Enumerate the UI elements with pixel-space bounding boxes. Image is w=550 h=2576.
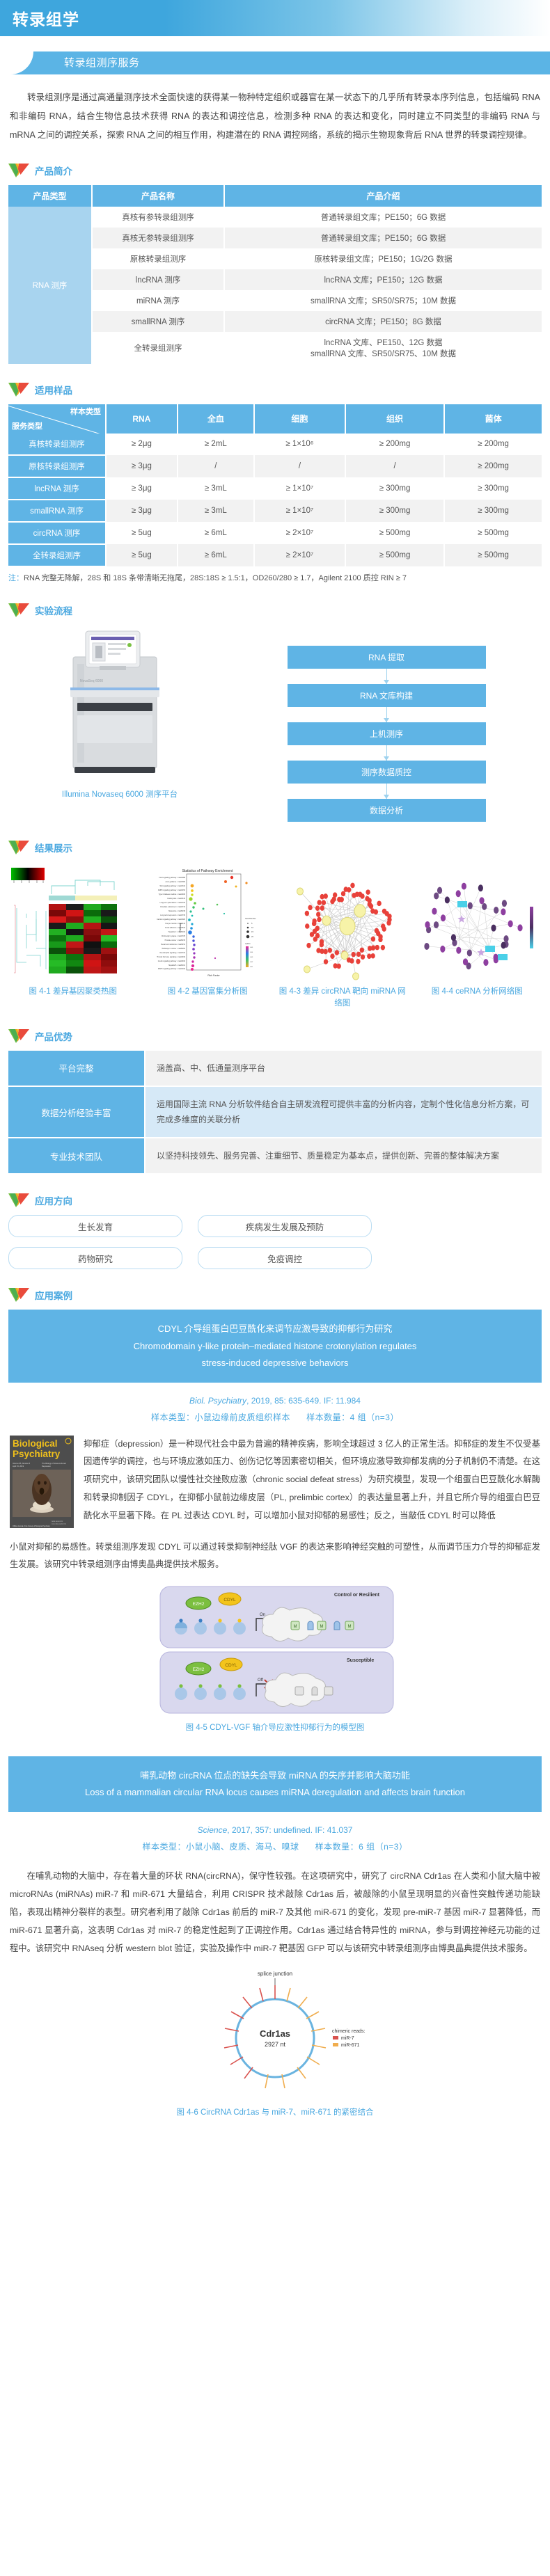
sample-requirement-cell: ≥ 3μg (106, 477, 178, 500)
sample-requirement-cell: ≥ 3mL (178, 477, 254, 500)
case-1-figure-caption: 图 4-5 CDYL-VGF 轴介导应激性抑郁行为的模型图 (186, 1722, 365, 1733)
figure-caption: 图 4-2 基因富集分析图 (168, 986, 248, 998)
sample-type-label: 样本类型： (151, 1413, 195, 1422)
heatmap-figure (7, 865, 139, 980)
journal-name: Biol. Psychiatry (189, 1396, 246, 1406)
svg-text:Calcium signaling pathway - hs: Calcium signaling pathway - hsa04020 (157, 919, 186, 921)
note-lead: 注： (8, 574, 24, 582)
flow-step-box: 上机测序 (288, 722, 486, 745)
advantage-key: 专业技术团队 (8, 1138, 145, 1174)
svg-text:Hepatitis C - hsa05160: Hepatitis C - hsa05160 (168, 931, 185, 933)
advantage-value: 涵盖高、中、低通量测序平台 (145, 1051, 542, 1086)
section-label: 结果展示 (35, 841, 72, 854)
col-product-name: 产品名称 (92, 185, 224, 207)
col-product-desc: 产品介绍 (224, 185, 542, 207)
case-citation-line: Biol. Psychiatry, 2019, 85: 635-649. IF:… (0, 1392, 550, 1409)
journal-cover-image: Biological Psychiatry Volume 85, Number … (10, 1436, 74, 1532)
svg-text:Insulin signaling pathway - hs: Insulin signaling pathway - hsa04910 (158, 960, 186, 962)
chimeric-reads-label: chimeric reads: (332, 2029, 366, 2034)
svg-text:qvalue: qvalue (245, 942, 251, 945)
sample-requirement-cell: ≥ 1×10⁷ (254, 500, 345, 522)
sample-count-value: 4 组（n=3） (350, 1413, 399, 1422)
svg-text:Axon guidance - hsa04360: Axon guidance - hsa04360 (165, 881, 185, 883)
sample-requirement-cell: ≥ 200mg (444, 434, 542, 455)
col-rna: RNA (106, 404, 178, 434)
sample-type-label: 样本类型： (143, 1842, 187, 1852)
flow-step-box: RNA 提取 (288, 646, 486, 669)
sample-requirement-cell: ≥ 6mL (178, 544, 254, 566)
svg-text:Long-term depression - hsa0473: Long-term depression - hsa04730 (160, 914, 186, 916)
svg-text:MAPK signaling pathway - hsa04: MAPK signaling pathway - hsa04010 (158, 968, 186, 970)
product-name-cell: 真核有参转录组测序 (92, 207, 224, 228)
case-1-title-banner: CDYL 介导组蛋白巴豆酰化来调节应激导致的抑郁行为研究 Chromodomai… (8, 1310, 542, 1382)
flow-arrow-icon (386, 669, 387, 684)
sample-requirement-cell: ≥ 2μg (106, 434, 178, 455)
sample-requirement-cell: ≥ 6mL (178, 522, 254, 544)
svg-text:M: M (320, 1625, 324, 1629)
sample-requirement-cell: ≥ 200mg (345, 434, 444, 455)
svg-text:April 15, 2019: April 15, 2019 (13, 1465, 24, 1468)
advantage-value: 运用国际主流 RNA 分析软件结合自主研发流程可提供丰富的分析内容，定制个性化信… (145, 1086, 542, 1138)
advantage-key: 数据分析经验丰富 (8, 1086, 145, 1138)
sample-count-label: 样本数量： (315, 1842, 359, 1852)
flow-steps-column: RNA 提取RNA 文库构建上机测序测序数据质控数据分析 (231, 628, 542, 822)
sample-type-value: 小鼠边缘前皮质组织样本 (195, 1413, 291, 1422)
advantage-row: 专业技术团队以坚持科技领先、服务完善、注重细节、质量稳定为基本点，提供创新、完善… (8, 1138, 542, 1174)
table-header-row: 样本类型 服务类型 RNA 全血 细胞 组织 菌体 (8, 404, 542, 434)
note-text: RNA 完整无降解，28S 和 18S 条带清晰无拖尾，28S:18S ≥ 1.… (24, 574, 407, 582)
svg-text:Oocyte meiosis - hsa04114: Oocyte meiosis - hsa04114 (165, 923, 185, 925)
col-whole-blood: 全血 (178, 404, 254, 434)
sequencer-caption: Illumina Novaseq 6000 测序平台 (62, 788, 178, 800)
col-tissue: 组织 (345, 404, 444, 434)
product-desc-cell: 原核转录组文库；PE150；1G/2G 数据 (224, 248, 542, 269)
svg-text:Cholinergic synapse - hsa04725: Cholinergic synapse - hsa04725 (162, 935, 186, 937)
section-heading-product-intro: 产品简介 (8, 163, 550, 178)
page-banner: 转录组学 (0, 0, 550, 36)
svg-text:Focal adhesion - hsa04510: Focal adhesion - hsa04510 (165, 927, 186, 929)
sample-requirement-cell: / (178, 455, 254, 477)
service-type-cell: 真核转录组测序 (8, 434, 106, 455)
application-direction-pill[interactable]: 药物研究 (8, 1247, 182, 1269)
svg-text:NovaSeq 6000: NovaSeq 6000 (80, 679, 103, 683)
svg-text:Pathways in cancer - hsa05200: Pathways in cancer - hsa05200 (162, 948, 185, 950)
svg-text:Psychiatry: Psychiatry (13, 1449, 61, 1459)
svg-text:GeneNumber: GeneNumber (245, 917, 256, 920)
svg-text:Circadian entrainment - hsa047: Circadian entrainment - hsa04713 (160, 906, 186, 908)
check-v-icon (8, 163, 29, 178)
svg-text:0.05: 0.05 (250, 947, 253, 948)
product-desc-cell: lncRNA 文库、PE150、12G 数据smallRNA 文库、SR50/S… (224, 332, 542, 364)
sample-requirement-cell: / (254, 455, 345, 477)
flow-arrow-icon (386, 707, 387, 722)
col-bacteria: 菌体 (444, 404, 542, 434)
service-sub-banner: 转录组测序服务 (0, 51, 550, 74)
sample-requirement-cell: ≥ 500mg (444, 544, 542, 566)
svg-text:www.sobp.org/journal: www.sobp.org/journal (52, 1522, 66, 1525)
figure-caption: 图 4-3 差异 circRNA 靶向 miRNA 网络图 (276, 986, 409, 1010)
case-title-en-line2: stress-induced depressive behaviors (25, 1355, 525, 1372)
case-2-meta: Science, 2017, 357: undefined. IF: 41.03… (0, 1822, 550, 1855)
sample-requirement-cell: ≥ 5ug (106, 544, 178, 566)
sample-requirement-cell: ≥ 500mg (345, 522, 444, 544)
svg-text:Pathway: Pathway (179, 923, 182, 932)
figure-caption: 图 4-4 ceRNA 分析网络图 (432, 986, 523, 998)
sample-requirement-cell: / (345, 455, 444, 477)
svg-text:CDYL: CDYL (223, 1598, 236, 1603)
figure-item: 图 4-3 差异 circRNA 靶向 miRNA 网络图 (276, 865, 409, 1010)
advantage-row: 平台完整涵盖高、中、低通量测序平台 (8, 1051, 542, 1086)
case-2-title-banner: 哺乳动物 circRNA 位点的缺失会导致 miRNA 的失序并影响大脑功能 L… (8, 1756, 542, 1812)
sub-banner-title: 转录组测序服务 (0, 51, 550, 74)
svg-text:AMPK signaling pathway - hsa04: AMPK signaling pathway - hsa04152 (158, 889, 186, 891)
svg-text:Control or Resilient: Control or Resilient (334, 1593, 380, 1598)
product-name-cell: 真核无参转录组测序 (92, 228, 224, 248)
svg-text:Depression: Depression (42, 1465, 52, 1468)
table-row: lncRNA 测序≥ 3μg≥ 3mL≥ 1×10⁷≥ 300mg≥ 300mg (8, 477, 542, 500)
sample-requirements-table: 样本类型 服务类型 RNA 全血 细胞 组织 菌体 真核转录组测序≥ 2μg≥ … (8, 404, 542, 567)
case-2-figure-caption: 图 4-6 CircRNA Cdr1as 与 miR-7、miR-671 的紧密… (176, 2106, 373, 2117)
product-desc-cell: smallRNA 文库；SR50/SR75；10M 数据 (224, 290, 542, 311)
sample-requirement-cell: ≥ 2×10⁷ (254, 544, 345, 566)
case-title-en-line1: Loss of a mammalian circular RNA locus c… (25, 1784, 525, 1801)
sample-requirement-cell: ≥ 3mL (178, 500, 254, 522)
product-name-cell: lncRNA 测序 (92, 269, 224, 290)
product-desc-cell: lncRNA 文库；PE150；12G 数据 (224, 269, 542, 290)
experiment-flow-area: NovaSeq 6000 Illumina Novaseq 6000 测序平台 … (8, 628, 542, 822)
svg-text:10: 10 (251, 926, 253, 929)
flow-arrow-icon (386, 745, 387, 761)
advantage-key: 平台完整 (8, 1051, 145, 1086)
figure-item: 图 4-4 ceRNA 分析网络图 (411, 865, 544, 1010)
svg-text:The Biology of Stress-Induced: The Biology of Stress-Induced (42, 1462, 66, 1465)
advantages-table: 平台完整涵盖高、中、低通量测序平台数据分析经验丰富运用国际主流 RNA 分析软件… (8, 1051, 542, 1175)
application-direction-pill[interactable]: 免疫调控 (198, 1247, 372, 1269)
product-table: 产品类型 产品名称 产品介绍 RNA 测序真核有参转录组测序普通转录组文库；PE… (8, 185, 542, 364)
section-heading-advantages: 产品优势 (8, 1028, 550, 1044)
table-row: 真核转录组测序≥ 2μg≥ 2mL≥ 1×10⁶≥ 200mg≥ 200mg (8, 434, 542, 455)
section-label: 产品简介 (35, 164, 72, 177)
svg-text:M: M (348, 1625, 352, 1629)
col-product-type: 产品类型 (8, 185, 92, 207)
figure-caption: 图 4-1 差异基因聚类热图 (29, 986, 117, 998)
svg-text:Endocytosis - hsa04144: Endocytosis - hsa04144 (167, 898, 185, 900)
product-name-cell: miRNA 测序 (92, 290, 224, 311)
journal-citation: , 2017, 357: undefined. IF: 41.037 (227, 1825, 352, 1835)
case-1-figure: Control or Resilient Susceptible EZH2 CD… (125, 1585, 425, 1733)
service-type-cell: 全转录组测序 (8, 544, 106, 566)
sample-requirement-cell: ≥ 300mg (444, 477, 542, 500)
sample-requirement-cell: ≥ 2×10⁷ (254, 522, 345, 544)
splice-junction-label: splice junction (258, 1971, 292, 1977)
sample-count-label: 样本数量： (306, 1413, 350, 1422)
sample-requirement-cell: ≥ 300mg (345, 500, 444, 522)
flow-arrow-icon (386, 784, 387, 799)
check-v-icon (8, 382, 29, 397)
intro-paragraph: 转录组测序是通过高通量测序技术全面快速的获得某一物种特定组织或器官在某一状态下的… (10, 88, 540, 145)
cdr1as-circular-plot: splice junction Cdr1as 2927 nt chimeric … (171, 1969, 379, 2101)
svg-text:Susceptible: Susceptible (347, 1658, 374, 1663)
product-desc-cell: 普通转录组文库；PE150；6G 数据 (224, 207, 542, 228)
novaseq-sequencer-icon: NovaSeq 6000 (61, 628, 179, 784)
svg-text:Type II diabetes mellitus - hs: Type II diabetes mellitus - hsa04930 (158, 893, 185, 896)
table-row: 全转录组测序≥ 5ug≥ 6mL≥ 2×10⁷≥ 500mg≥ 500mg (8, 544, 542, 566)
svg-text:Official Journal of the Societ: Official Journal of the Society of Biolo… (13, 1525, 51, 1527)
svg-text:Melanoma - hsa05218: Melanoma - hsa05218 (168, 910, 185, 912)
figure-item: Statistics of Pathway Enrichment Fox0 si… (142, 865, 274, 1010)
table-row: RNA 测序真核有参转录组测序普通转录组文库；PE150；6G 数据 (8, 207, 542, 228)
svg-text:0.03: 0.03 (250, 957, 253, 958)
page-title: 转录组学 (13, 6, 79, 30)
sample-requirement-cell: ≥ 500mg (444, 522, 542, 544)
application-direction-pill[interactable]: 生长发育 (8, 1215, 182, 1237)
circrna-mirna-network-figure (276, 865, 409, 980)
product-category-cell: RNA 测序 (8, 207, 92, 364)
section-heading-experiment-flow: 实验流程 (8, 603, 550, 618)
cerna-network-figure (411, 865, 544, 980)
service-type-cell: circRNA 测序 (8, 522, 106, 544)
sample-requirement-cell: ≥ 500mg (345, 544, 444, 566)
case-title-cn: CDYL 介导组蛋白巴豆酰化来调节应激导致的抑郁行为研究 (25, 1321, 525, 1337)
sample-type-value: 小鼠小脑、皮质、海马、嗅球 (186, 1842, 299, 1852)
case-citation-line: Science, 2017, 357: undefined. IF: 41.03… (0, 1822, 550, 1838)
sample-requirement-cell: ≥ 300mg (444, 500, 542, 522)
svg-text:Statistics of Pathway Enrichme: Statistics of Pathway Enrichment (182, 869, 233, 873)
section-heading-applications: 应用方向 (8, 1193, 550, 1208)
svg-text:Thyroid hormone signaling - hs: Thyroid hormone signaling - hsa04919 (157, 956, 185, 958)
svg-text:EZH2: EZH2 (193, 1602, 205, 1607)
sample-requirement-cell: ≥ 200mg (444, 455, 542, 477)
application-directions-list: 生长发育疾病发生发展及预防药物研究免疫调控 (8, 1215, 542, 1269)
corner-service-type-label: 服务类型 (12, 420, 42, 431)
product-name-cell: 全转录组测序 (92, 332, 224, 364)
svg-text:M: M (294, 1625, 297, 1629)
section-label: 应用方向 (35, 1193, 72, 1207)
svg-text:Off: Off (258, 1678, 263, 1683)
results-figures: 图 4-1 差异基因聚类热图 Statistics of Pathway Enr… (7, 865, 543, 1010)
figure-item: 图 4-1 差异基因聚类热图 (7, 865, 139, 1010)
check-v-icon (8, 1287, 29, 1303)
svg-text:0.01: 0.01 (250, 967, 253, 968)
check-v-icon (8, 603, 29, 618)
circrna-name: Cdr1as (260, 2028, 290, 2039)
svg-text:Volume 85, Number 8: Volume 85, Number 8 (13, 1462, 31, 1465)
case-sample-line: 样本类型：小鼠边缘前皮质组织样本 样本数量：4 组（n=3） (0, 1409, 550, 1426)
svg-text:Prostate cancer - hsa05215: Prostate cancer - hsa05215 (164, 939, 185, 941)
svg-text:Long-term potentiation - hsa04: Long-term potentiation - hsa04720 (159, 902, 185, 904)
cdyl-vgf-model-diagram: Control or Resilient Susceptible EZH2 CD… (125, 1585, 425, 1716)
svg-text:15: 15 (251, 930, 253, 933)
flow-step-box: RNA 文库构建 (288, 684, 486, 707)
svg-text:Fox0 signaling pathway - hsa04: Fox0 signaling pathway - hsa04068 (159, 877, 185, 879)
check-v-icon (8, 1193, 29, 1208)
sample-requirement-cell: ≥ 1×10⁶ (254, 434, 345, 455)
svg-text:Biological: Biological (13, 1438, 58, 1449)
svg-text:Renal cell carcinoma - hsa0521: Renal cell carcinoma - hsa05211 (161, 944, 185, 946)
sequencer-illustration-column: NovaSeq 6000 Illumina Novaseq 6000 测序平台 (8, 628, 231, 800)
corner-header: 样本类型 服务类型 (8, 404, 106, 434)
svg-text:Neurotrophin signaling - hsa04: Neurotrophin signaling - hsa04722 (159, 952, 185, 954)
case-1-body: Biological Psychiatry Volume 85, Number … (10, 1436, 540, 1532)
table-header-row: 产品类型 产品名称 产品介绍 (8, 185, 542, 207)
svg-text:20: 20 (251, 935, 253, 938)
case-2-text: 在哺乳动物的大脑中，存在着大量的环状 RNA(circRNA)，保守性较强。在这… (10, 1868, 540, 1957)
advantage-row: 数据分析经验丰富运用国际主流 RNA 分析软件结合自主研发流程可提供丰富的分析内… (8, 1086, 542, 1138)
svg-text:Hepatitis B - hsa05161: Hepatitis B - hsa05161 (168, 964, 186, 967)
product-name-cell: 原核转录组测序 (92, 248, 224, 269)
svg-text:CDYL: CDYL (225, 1663, 237, 1668)
section-label: 产品优势 (35, 1029, 72, 1043)
legend-mir7: miR-7 (341, 2036, 354, 2041)
case-1-meta: Biol. Psychiatry, 2019, 85: 635-649. IF:… (0, 1392, 550, 1426)
service-type-cell: 原核转录组测序 (8, 455, 106, 477)
section-label: 应用案例 (35, 1288, 72, 1302)
svg-text:0.04: 0.04 (250, 952, 253, 953)
section-label: 适用样品 (35, 383, 72, 397)
svg-text:Rich Factor: Rich Factor (207, 974, 220, 977)
case-title-cn: 哺乳动物 circRNA 位点的缺失会导致 miRNA 的失序并影响大脑功能 (25, 1767, 525, 1784)
legend-mir671: miR-671 (341, 2043, 360, 2048)
sample-requirement-cell: ≥ 5ug (106, 522, 178, 544)
service-type-cell: smallRNA 测序 (8, 500, 106, 522)
svg-text:ISSN 0006-3223: ISSN 0006-3223 (52, 1521, 63, 1522)
section-label: 实验流程 (35, 603, 72, 617)
case-1-text-part1: 抑郁症（depression）是一种现代社会中最为普遍的精神疾病，影响全球超过 … (84, 1436, 540, 1532)
sample-requirement-cell: ≥ 300mg (345, 477, 444, 500)
service-type-cell: lncRNA 测序 (8, 477, 106, 500)
journal-citation: , 2019, 85: 635-649. IF: 11.984 (246, 1396, 361, 1406)
flow-step-box: 测序数据质控 (288, 761, 486, 784)
corner-sample-type-label: 样本类型 (70, 406, 101, 417)
table-row: smallRNA 测序≥ 3μg≥ 3mL≥ 1×10⁷≥ 300mg≥ 300… (8, 500, 542, 522)
advantage-value: 以坚持科技领先、服务完善、注重细节、质量稳定为基本点，提供创新、完善的整体解决方… (145, 1138, 542, 1174)
sample-requirement-cell: ≥ 3μg (106, 455, 178, 477)
case-1-text-part2: 小鼠对抑郁的易感性。转录组测序发现 CDYL 可以通过转录抑制神经肽 VGF 的… (10, 1539, 540, 1575)
svg-text:5: 5 (251, 922, 253, 925)
product-desc-cell: 普通转录组文库；PE150；6G 数据 (224, 228, 542, 248)
section-heading-results: 结果展示 (8, 840, 550, 855)
case-2-figure: splice junction Cdr1as 2927 nt chimeric … (125, 1969, 425, 2117)
application-direction-pill[interactable]: 疾病发生发展及预防 (198, 1215, 372, 1237)
sample-requirement-cell: ≥ 1×10⁷ (254, 477, 345, 500)
svg-text:EZH2: EZH2 (193, 1667, 205, 1672)
svg-text:Wnt signaling pathway - hsa043: Wnt signaling pathway - hsa04310 (159, 885, 185, 887)
product-name-cell: smallRNA 测序 (92, 311, 224, 332)
section-heading-applicable-samples: 适用样品 (8, 382, 550, 397)
section-heading-cases: 应用案例 (8, 1287, 550, 1303)
sample-requirement-cell: ≥ 3μg (106, 500, 178, 522)
journal-name: Science (198, 1825, 228, 1835)
sample-count-value: 6 组（n=3） (359, 1842, 407, 1852)
case-title-en-line1: Chromodomain y-like protein–mediated his… (25, 1338, 525, 1355)
circrna-length: 2927 nt (265, 2041, 286, 2048)
check-v-icon (8, 1028, 29, 1044)
check-v-icon (8, 840, 29, 855)
case-sample-line: 样本类型：小鼠小脑、皮质、海马、嗅球 样本数量：6 组（n=3） (0, 1838, 550, 1855)
flow-step-box: 数据分析 (288, 799, 486, 822)
product-desc-cell: circRNA 文库；PE150；8G 数据 (224, 311, 542, 332)
sample-note: 注：RNA 完整无降解，28S 和 18S 条带清晰无拖尾，28S:18S ≥ … (8, 573, 542, 585)
col-cell: 细胞 (254, 404, 345, 434)
svg-text:0.02: 0.02 (250, 962, 253, 963)
sample-requirement-cell: ≥ 2mL (178, 434, 254, 455)
table-row: 原核转录组测序≥ 3μg///≥ 200mg (8, 455, 542, 477)
pathway-enrichment-figure: Statistics of Pathway Enrichment Fox0 si… (142, 865, 274, 980)
table-row: circRNA 测序≥ 5ug≥ 6mL≥ 2×10⁷≥ 500mg≥ 500m… (8, 522, 542, 544)
